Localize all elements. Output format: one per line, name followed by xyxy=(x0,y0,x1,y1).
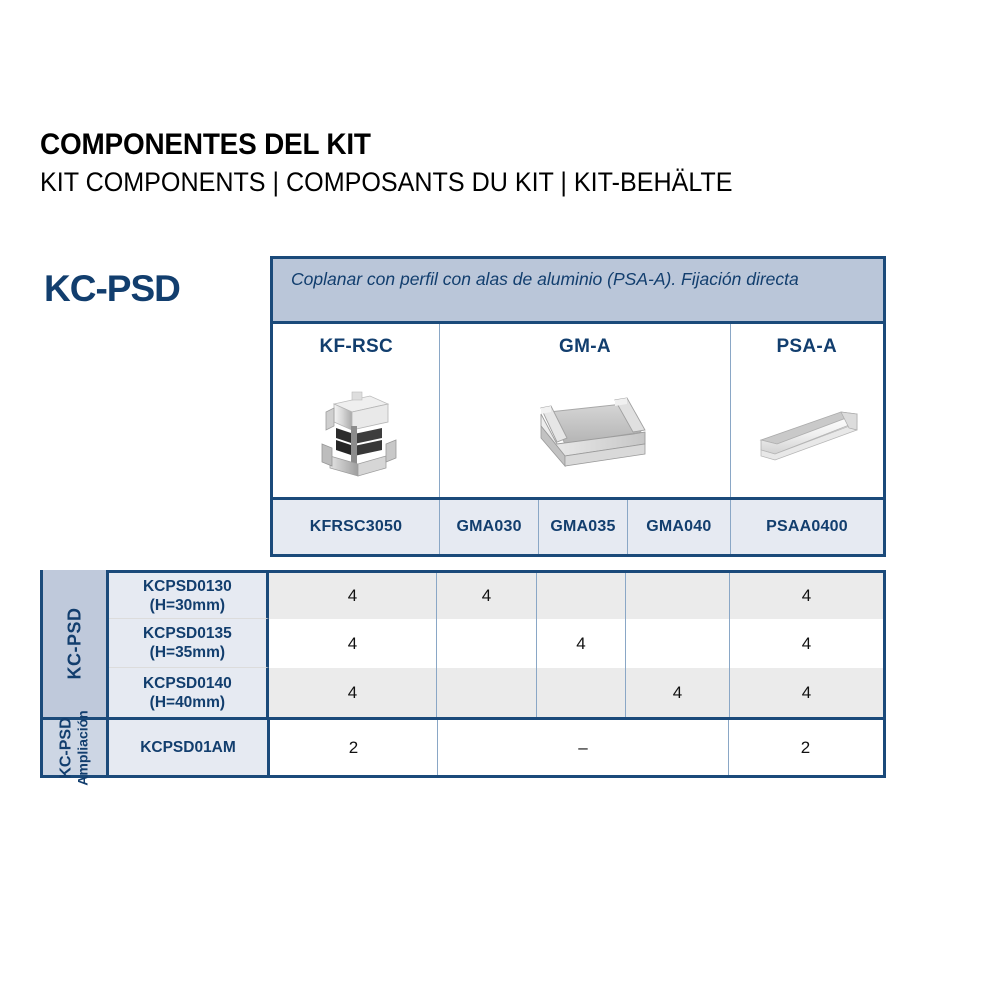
kit-height: (H=40mm) xyxy=(150,693,225,712)
qty-psaa0400: 4 xyxy=(729,668,883,717)
table-row: KCPSD0130 (H=30mm) 4 4 4 xyxy=(43,570,883,619)
product-image-row xyxy=(270,370,886,500)
group-label-text: KC-PSD xyxy=(64,607,85,679)
components-header-table: Coplanar con perfil con alas de aluminio… xyxy=(270,256,886,557)
kit-code-cell: KCPSD0140 (H=40mm) xyxy=(109,668,269,717)
qty-psaa0400: 2 xyxy=(728,720,882,775)
clamp-fixing-icon xyxy=(308,382,404,486)
group-label-line1: KC-PSD xyxy=(58,717,75,778)
row-values: 4 4 4 xyxy=(269,668,883,717)
family-header-kf-rsc: KF-RSC xyxy=(273,324,439,370)
qty-gma035 xyxy=(536,668,625,717)
qty-gma040 xyxy=(625,619,729,668)
rail-profile-icon xyxy=(745,396,869,472)
kit-code-cell: KCPSD0135 (H=35mm) xyxy=(109,619,269,668)
page-subtitle: KIT COMPONENTS | COMPOSANTS DU KIT | KIT… xyxy=(40,166,877,198)
qty-kfrsc3050: 4 xyxy=(269,573,436,619)
qty-gm-a-merged: – xyxy=(437,720,728,775)
table-row: KCPSD0135 (H=35mm) 4 4 4 xyxy=(43,619,883,668)
group-label-kc-psd: KC-PSD xyxy=(43,570,109,717)
page-title: COMPONENTES DEL KIT xyxy=(40,128,877,162)
row-values: 4 4 4 xyxy=(269,573,883,619)
part-code-kfrsc3050: KFRSC3050 xyxy=(273,500,439,554)
qty-kfrsc3050: 4 xyxy=(269,619,436,668)
qty-gma030 xyxy=(436,619,536,668)
table-row-expansion: KC-PSD Ampliación KCPSD01AM 2 – 2 xyxy=(43,717,883,775)
datasheet-page: COMPONENTES DEL KIT KIT COMPONENTS | COM… xyxy=(0,0,1000,1000)
qty-gma030: 4 xyxy=(436,573,536,619)
qty-kfrsc3050: 2 xyxy=(270,720,437,775)
part-code-gma035: GMA035 xyxy=(538,500,626,554)
part-code-row: KFRSC3050 GMA030 GMA035 GMA040 PSAA0400 xyxy=(270,500,886,557)
qty-gma030 xyxy=(436,668,536,717)
image-cell-kf-rsc xyxy=(273,370,439,497)
table-row: KCPSD0140 (H=40mm) 4 4 4 xyxy=(43,668,883,717)
part-code-gma040: GMA040 xyxy=(627,500,730,554)
group-label-kc-psd-ampliacion: KC-PSD Ampliación xyxy=(43,720,109,775)
row-values: 4 4 4 xyxy=(269,619,883,668)
qty-gma040 xyxy=(625,573,729,619)
kit-code: KCPSD0140 xyxy=(143,674,232,693)
kit-code: KCPSD0135 xyxy=(143,624,232,643)
qty-psaa0400: 4 xyxy=(729,573,883,619)
row-group-kc-psd: KC-PSD KCPSD0130 (H=30mm) 4 4 4 xyxy=(43,570,883,717)
image-cell-gm-a xyxy=(439,370,729,497)
group-label-line2: Ampliación xyxy=(75,710,91,785)
kit-code: KCPSD01AM xyxy=(140,738,236,757)
product-family-row: KF-RSC GM-A PSA-A xyxy=(270,324,886,370)
family-header-psa-a: PSA-A xyxy=(730,324,884,370)
qty-kfrsc3050: 4 xyxy=(269,668,436,717)
tray-profile-icon xyxy=(515,386,655,482)
kit-height: (H=30mm) xyxy=(150,596,225,615)
part-code-gma030: GMA030 xyxy=(439,500,538,554)
image-cell-psa-a xyxy=(730,370,884,497)
kit-family-title: KC-PSD xyxy=(44,268,180,310)
group-label-text: KC-PSD Ampliación xyxy=(58,710,92,785)
kit-code: KCPSD0130 xyxy=(143,577,232,596)
qty-gma035: 4 xyxy=(536,619,625,668)
family-header-gm-a: GM-A xyxy=(439,324,729,370)
banner-description: Coplanar con perfil con alas de aluminio… xyxy=(270,256,886,324)
kit-code-cell: KCPSD01AM xyxy=(109,720,270,775)
page-heading-block: COMPONENTES DEL KIT KIT COMPONENTS | COM… xyxy=(40,128,940,198)
qty-gma035 xyxy=(536,573,625,619)
kit-matrix: KC-PSD KCPSD0130 (H=30mm) 4 4 4 xyxy=(40,570,886,778)
kit-code-cell: KCPSD0130 (H=30mm) xyxy=(109,573,269,619)
qty-psaa0400: 4 xyxy=(729,619,883,668)
part-code-psaa0400: PSAA0400 xyxy=(730,500,883,554)
kit-height: (H=35mm) xyxy=(150,643,225,662)
qty-gma040: 4 xyxy=(625,668,729,717)
row-values: 2 – 2 xyxy=(270,720,883,775)
